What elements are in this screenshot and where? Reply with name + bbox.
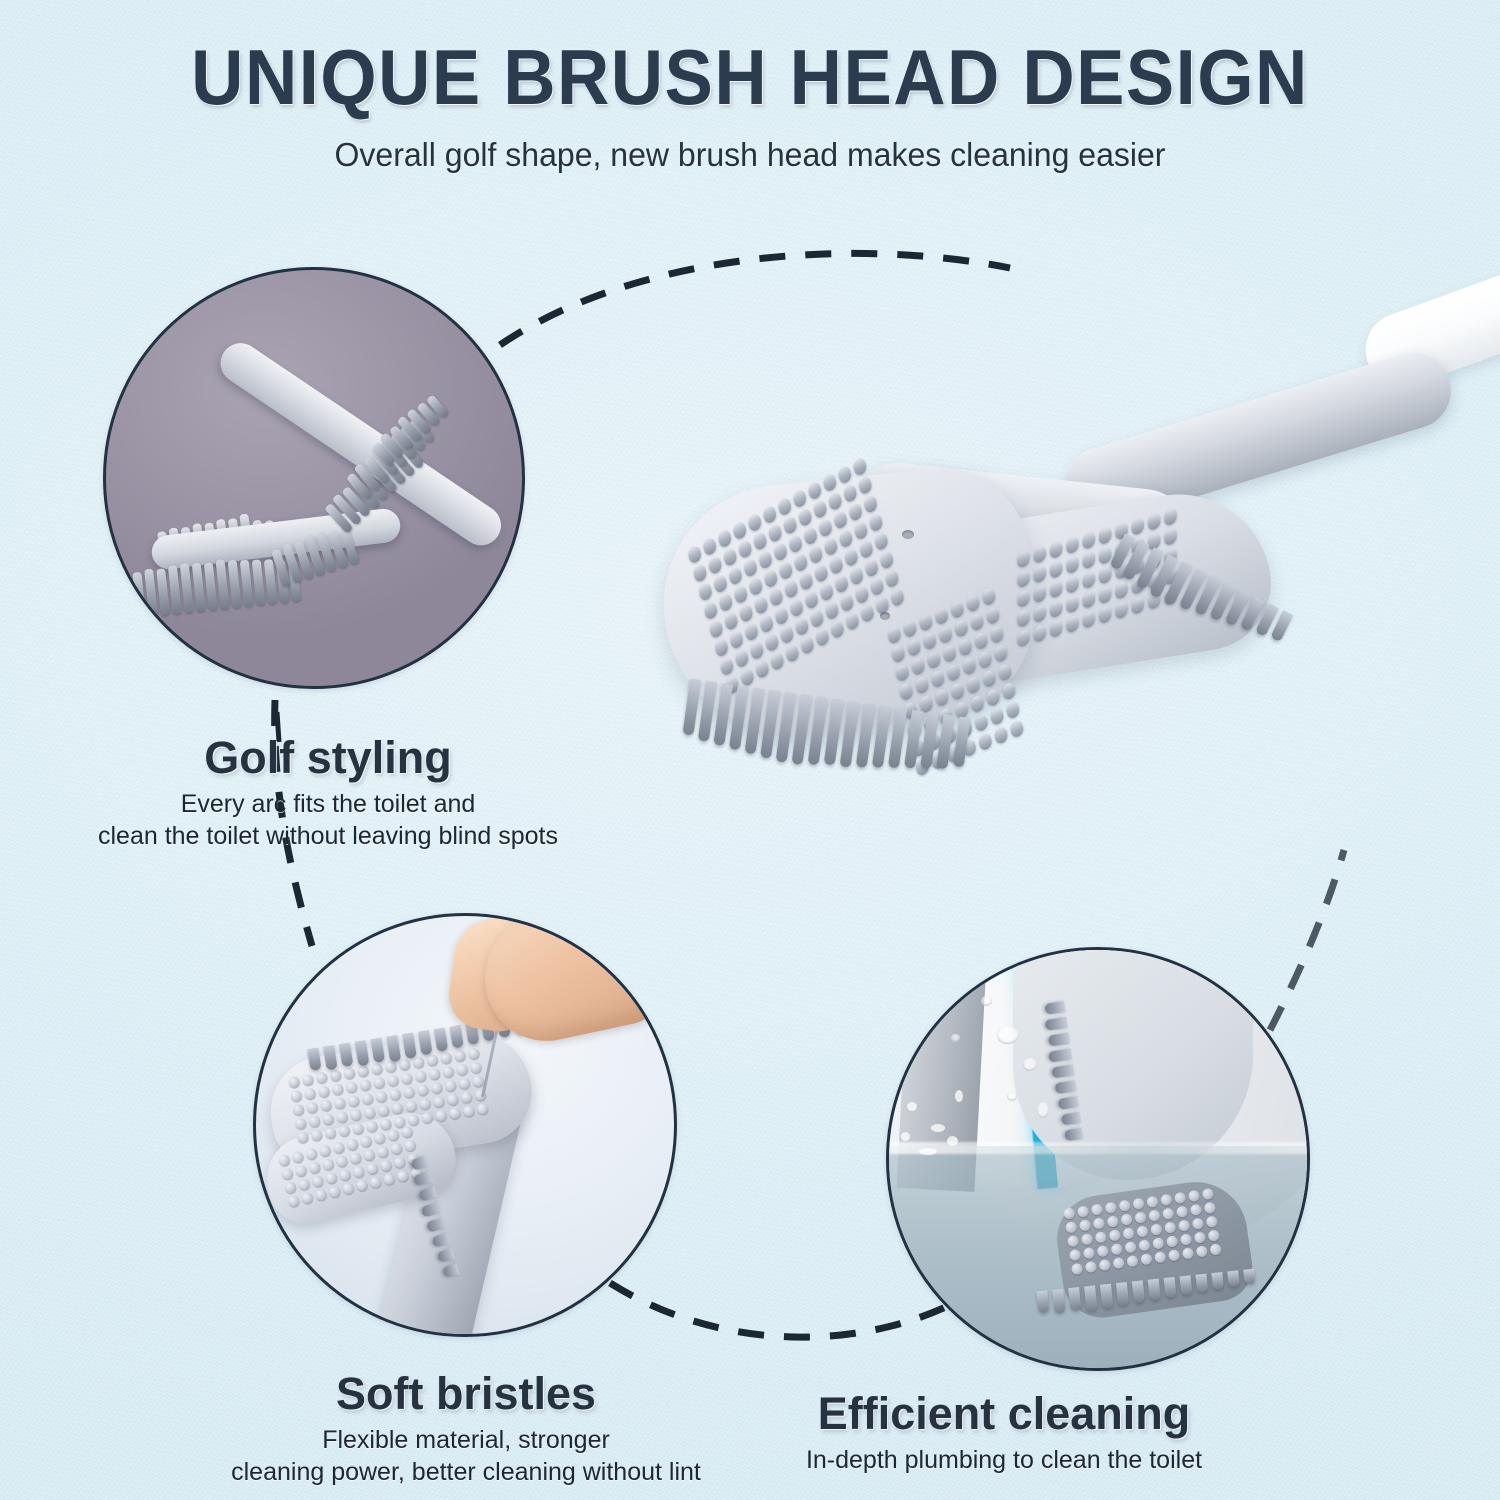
splash-drop [955, 1090, 963, 1102]
caption-title: Golf styling [48, 732, 608, 784]
caption-title: Efficient cleaning [694, 1388, 1314, 1440]
caption-body-line2: clean the toilet without leaving blind s… [48, 820, 608, 852]
product-hero-image [640, 280, 1500, 900]
header-block: UNIQUE BRUSH HEAD DESIGN Overall golf sh… [0, 34, 1500, 176]
splash-drop [919, 1148, 937, 1155]
circle-golf-styling-photo [103, 267, 525, 689]
circle-soft-bristles-photo [253, 913, 677, 1337]
water-droplet [1023, 1058, 1037, 1071]
hanging-hole [902, 530, 914, 539]
water-droplet [981, 996, 992, 1006]
caption-body-line1: In-depth plumbing to clean the toilet [694, 1444, 1314, 1476]
vent-hole [880, 612, 890, 620]
page-title: UNIQUE BRUSH HEAD DESIGN [53, 34, 1448, 120]
infographic-canvas: UNIQUE BRUSH HEAD DESIGN Overall golf sh… [0, 0, 1500, 1500]
splash-drop [931, 1124, 945, 1132]
splash-drop [947, 1136, 958, 1146]
caption-title: Soft bristles [206, 1368, 726, 1420]
caption-golf-styling: Golf styling Every arc fits the toilet a… [48, 732, 608, 852]
caption-body-line2: cleaning power, better cleaning without … [206, 1456, 726, 1488]
golf-photo-contents [106, 270, 522, 686]
caption-body-line1: Flexible material, stronger [206, 1424, 726, 1456]
caption-soft-bristles: Soft bristles Flexible material, stronge… [206, 1368, 726, 1488]
splash-drop [901, 1132, 910, 1141]
bristles-photo-contents [256, 916, 674, 1334]
splash-drop [907, 1102, 917, 1111]
water-droplet [997, 1026, 1019, 1044]
caption-efficient-cleaning: Efficient cleaning In-depth plumbing to … [694, 1388, 1314, 1476]
water-droplet [951, 1034, 960, 1042]
circle-efficient-cleaning-photo [886, 947, 1310, 1371]
water-droplet [1007, 1092, 1017, 1101]
caption-body-line1: Every arc fits the toilet and [48, 788, 608, 820]
water-droplet [1037, 1102, 1049, 1118]
page-subtitle: Overall golf shape, new brush head makes… [23, 134, 1478, 176]
efficient-photo-contents [889, 950, 1307, 1368]
